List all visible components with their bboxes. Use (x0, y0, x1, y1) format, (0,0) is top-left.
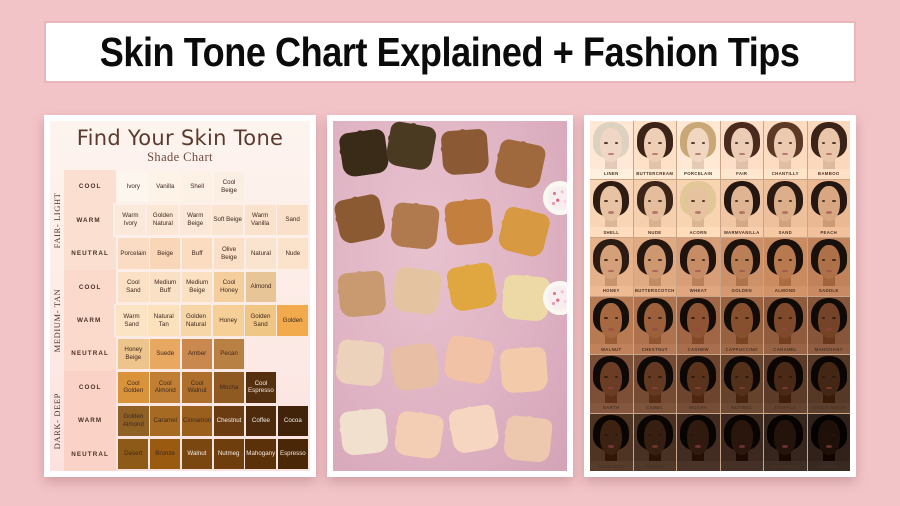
hand-cookie (333, 192, 387, 245)
shade-cell[interactable]: Chestnut (214, 406, 244, 436)
face-shade-cell[interactable]: COCOA (808, 414, 851, 472)
face-shade-cell[interactable]: MOCHA (677, 355, 720, 413)
shade-cell[interactable]: Espresso (278, 439, 308, 469)
shade-cells: Cool SandMedium BuffMedium BeigeCool Hon… (116, 270, 310, 303)
face-shade-name: CASHEW (677, 344, 720, 354)
face-shade-cell[interactable]: MAHOGANY (808, 297, 851, 355)
face-shade-name: PORCELAIN (677, 169, 720, 179)
face-shade-cell[interactable]: NUDE (634, 180, 677, 238)
shade-cell[interactable]: Medium Beige (182, 272, 212, 302)
hand-cookie (444, 198, 494, 247)
shade-cell[interactable]: Nutmeg (214, 439, 244, 469)
face-shade-name: CHANTILLY (764, 169, 807, 179)
shade-row: NEUTRALPorcelainBeigeBuffOlive BeigeNatu… (64, 237, 310, 270)
hand-cookie (503, 415, 553, 464)
face-shade-name: WHEAT (677, 286, 720, 296)
face-shade-name: BUTTERCREAM (634, 169, 677, 179)
face-shade-name: ACORN (677, 227, 720, 237)
face-shade-name: CAMEL (634, 403, 677, 413)
hand-cookie (384, 121, 437, 172)
face-shade-name: MAHOGANY (808, 344, 851, 354)
hand-cookies-photo (333, 121, 567, 471)
shade-cell[interactable]: Shell (182, 172, 212, 202)
shade-chart-inner: Find Your Skin Tone Shade Chart FAIR- LI… (50, 121, 310, 471)
hand-cookie (393, 410, 445, 460)
face-shade-name: NUDE (634, 227, 677, 237)
shade-row: NEUTRALHoney BeigeSuedeAmberPecan (64, 337, 310, 370)
face-shade-cell[interactable]: PERIWINKLE (764, 414, 807, 472)
shade-cell[interactable]: Beige (150, 238, 180, 268)
hand-cookie (390, 201, 440, 250)
shade-cell[interactable]: Mocha (214, 372, 244, 402)
shade-cells: Warm SandNatural TanGolden NaturalHoneyG… (114, 304, 310, 337)
shade-cells: Warm IvoryGolden NaturalWarm BeigeSoft B… (113, 203, 310, 236)
shade-band-0: COOLIvoryVanillaShellCool BeigeWARMWarm … (64, 170, 310, 270)
shade-row: COOLIvoryVanillaShellCool Beige (64, 170, 310, 203)
shade-cell[interactable]: Vanilla (150, 172, 180, 202)
shade-row: WARMWarm IvoryGolden NaturalWarm BeigeSo… (64, 203, 310, 236)
undertone-label-cool: COOL (64, 170, 116, 203)
face-shade-cell[interactable]: EARTH (590, 355, 633, 413)
shade-cell[interactable]: Medium Buff (150, 272, 180, 302)
shade-cell[interactable]: Mahogany (245, 439, 276, 469)
shade-band-2: COOLCool GoldenCool AlmondCool WalnutMoc… (64, 371, 310, 471)
page-title: Skin Tone Chart Explained + Fashion Tips (100, 32, 800, 73)
hand-cookie (339, 128, 391, 178)
shade-cell[interactable]: Ivory (118, 172, 148, 202)
shade-cell[interactable]: Cool Almond (150, 372, 180, 402)
shade-cell[interactable]: Porcelain (118, 238, 148, 268)
face-shade-name: BISQUE (634, 461, 677, 471)
hand-cookie (443, 334, 496, 385)
face-shade-name: COCOA (808, 461, 851, 471)
shade-cell[interactable]: Caramel (150, 406, 180, 436)
face-shade-name: PEACH (808, 227, 851, 237)
face-shade-cell[interactable]: FAIR (721, 121, 764, 179)
face-shade-name: MOCHA (677, 403, 720, 413)
face-shade-cell[interactable]: CAPPUCCINO (721, 297, 764, 355)
face-shade-cell[interactable]: BUTTERCREAM (634, 121, 677, 179)
hand-cookies-photo-panel (327, 115, 573, 477)
undertone-label-warm: WARM (64, 404, 116, 437)
face-shade-name: SADDLE (808, 286, 851, 296)
hand-cookie (337, 270, 387, 318)
face-shade-cell[interactable]: CHANTILLY (764, 121, 807, 179)
face-shade-name: DARK CLOVE (721, 461, 764, 471)
shade-cell[interactable]: Cool Honey (214, 272, 244, 302)
shade-cell[interactable]: Golden Natural (147, 205, 178, 235)
face-shade-name: NUTMEG (721, 403, 764, 413)
shade-chart-subtitle: Shade Chart (50, 150, 310, 165)
shade-cell[interactable]: Natural Tan (148, 305, 179, 335)
face-shade-cell[interactable]: BUTTERSCOTCH (634, 238, 677, 296)
shade-cell[interactable]: Almond (246, 272, 276, 302)
face-shade-cell[interactable]: SIENA (677, 414, 720, 472)
face-shade-name: SIENA (677, 461, 720, 471)
shade-band-1: COOLCool SandMedium BuffMedium BeigeCool… (64, 270, 310, 370)
face-shade-name: WALNUT (590, 344, 633, 354)
face-shade-cell[interactable]: CARAMEL (764, 297, 807, 355)
face-shade-cell[interactable]: ALMOND (764, 238, 807, 296)
shade-cell[interactable]: Cool Walnut (182, 372, 212, 402)
faces-shade-grid: LINENBUTTERCREAMPORCELAINFAIRCHANTILLYBA… (590, 121, 850, 471)
face-shade-name: HAZELNUT (590, 461, 633, 471)
shade-cell[interactable]: Olive Beige (214, 238, 244, 268)
sprinkles-bowl (543, 181, 567, 215)
face-shade-cell[interactable]: SANDALWOOD (808, 355, 851, 413)
shade-cell[interactable]: Warm Ivory (115, 205, 146, 235)
group-label-2: DARK- DEEP (50, 371, 64, 471)
hand-cookie (391, 266, 443, 316)
shade-cell[interactable]: Golden Natural (181, 305, 212, 335)
face-shade-cell[interactable]: GOLDEN (721, 238, 764, 296)
group-label-1: MEDIUM- TAN (50, 270, 64, 370)
face-shade-cell[interactable]: WHEAT (677, 238, 720, 296)
face-shade-cell[interactable]: SHELL (590, 180, 633, 238)
shade-row: WARMWarm SandNatural TanGolden NaturalHo… (64, 304, 310, 337)
undertone-label-cool: COOL (64, 270, 116, 303)
shade-cells: Golden AlmondCaramelCinnamonChestnutCoff… (116, 404, 310, 437)
face-shade-name: ALMOND (764, 286, 807, 296)
shade-cell[interactable]: Suede (150, 339, 180, 369)
face-shade-name: GOLDEN (721, 286, 764, 296)
face-shade-cell[interactable]: HAZELNUT (590, 414, 633, 472)
shade-cells: Honey BeigeSuedeAmberPecan (116, 337, 310, 370)
face-shade-name: TRUFFLE (764, 403, 807, 413)
face-shade-cell[interactable]: CHESTNUT (634, 297, 677, 355)
face-shade-name: HONEY (590, 286, 633, 296)
shade-row: COOLCool SandMedium BuffMedium BeigeCool… (64, 270, 310, 303)
face-shade-cell[interactable]: TRUFFLE (764, 355, 807, 413)
undertone-label-warm: WARM (64, 304, 114, 337)
shade-cell[interactable]: Natural (246, 238, 276, 268)
shade-cell[interactable]: Buff (182, 238, 212, 268)
face-shade-name: SAND (764, 227, 807, 237)
shade-cell[interactable]: Desert (118, 439, 148, 469)
face-shade-name: LINEN (590, 169, 633, 179)
shade-cell[interactable]: Pecan (214, 339, 244, 369)
face-shade-cell[interactable]: HONEY (590, 238, 633, 296)
shade-cell[interactable]: Nude (278, 238, 308, 268)
title-banner: Skin Tone Chart Explained + Fashion Tips (44, 21, 856, 83)
face-shade-cell[interactable]: CAMEL (634, 355, 677, 413)
face-shade-name: SANDALWOOD (808, 403, 851, 413)
shade-cell[interactable]: Golden Almond (118, 406, 148, 436)
face-shade-cell[interactable]: SAND (764, 180, 807, 238)
shade-cell[interactable]: Golden (277, 305, 308, 335)
shade-row: NEUTRALDesertBronzeWalnutNutmegMahoganyE… (64, 438, 310, 471)
hand-cookie (500, 346, 549, 393)
undertone-label-neutral: NEUTRAL (64, 438, 116, 471)
shade-cell[interactable]: Cool Beige (214, 172, 244, 202)
shade-cell[interactable]: Sand (277, 205, 308, 235)
face-shade-name: CAPPUCCINO (721, 344, 764, 354)
shade-cell[interactable]: Honey (213, 305, 244, 335)
hand-cookie (447, 403, 500, 454)
group-label-column: FAIR- LIGHTMEDIUM- TANDARK- DEEP (50, 170, 64, 471)
face-shade-name: BAMBOO (808, 169, 851, 179)
face-shade-cell[interactable]: BAMBOO (808, 121, 851, 179)
shade-cell[interactable]: Cool Golden (118, 372, 148, 402)
shade-chart-rows: COOLIvoryVanillaShellCool BeigeWARMWarm … (64, 170, 310, 471)
face-shade-name: CHESTNUT (634, 344, 677, 354)
face-shade-name: EARTH (590, 403, 633, 413)
undertone-label-neutral: NEUTRAL (64, 337, 116, 370)
hand-cookie (496, 206, 551, 260)
face-shade-cell[interactable]: ACORN (677, 180, 720, 238)
hand-cookie (389, 342, 441, 392)
shade-cells: PorcelainBeigeBuffOlive BeigeNaturalNude (116, 237, 310, 270)
group-label-0: FAIR- LIGHT (50, 170, 64, 270)
face-shade-cell[interactable]: WALNUT (590, 297, 633, 355)
face-shade-name: FAIR (721, 169, 764, 179)
shade-cell[interactable]: Warm Sand (116, 305, 147, 335)
hand-cookie (445, 262, 498, 313)
face-shade-cell[interactable]: PORCELAIN (677, 121, 720, 179)
undertone-label-warm: WARM (64, 203, 113, 236)
face-shade-cell[interactable]: NUTMEG (721, 355, 764, 413)
shade-cell[interactable]: Walnut (182, 439, 212, 469)
shade-chart-grid: FAIR- LIGHTMEDIUM- TANDARK- DEEP COOLIvo… (50, 170, 310, 471)
face-shade-cell[interactable]: CASHEW (677, 297, 720, 355)
shade-cell[interactable]: Warm Beige (180, 205, 211, 235)
hand-cookie (339, 408, 389, 457)
face-shade-cell[interactable]: WARMVANILLA (721, 180, 764, 238)
face-shade-cell[interactable]: BISQUE (634, 414, 677, 472)
shade-cell[interactable]: Cool Sand (118, 272, 148, 302)
shade-cell[interactable]: Amber (182, 339, 212, 369)
shade-chart-header: Find Your Skin Tone Shade Chart (50, 121, 310, 170)
shade-cell[interactable]: Honey Beige (118, 339, 148, 369)
hand-cookie (335, 339, 385, 388)
face-shade-cell[interactable]: DARK CLOVE (721, 414, 764, 472)
shade-cell[interactable]: Coffee (246, 406, 276, 436)
face-shade-name: CARAMEL (764, 344, 807, 354)
face-shade-cell[interactable]: LINEN (590, 121, 633, 179)
shade-row: COOLCool GoldenCool AlmondCool WalnutMoc… (64, 371, 310, 404)
shade-chart-panel: Find Your Skin Tone Shade Chart FAIR- LI… (44, 115, 316, 477)
shade-cell[interactable]: Cinnamon (182, 406, 212, 436)
faces-shade-grid-panel: LINENBUTTERCREAMPORCELAINFAIRCHANTILLYBA… (584, 115, 856, 477)
shade-cell[interactable]: Soft Beige (212, 205, 243, 235)
shade-cells: DesertBronzeWalnutNutmegMahoganyEspresso (116, 438, 310, 471)
shade-chart-title: Find Your Skin Tone (50, 127, 310, 149)
face-shade-name: BUTTERSCOTCH (634, 286, 677, 296)
shade-row: WARMGolden AlmondCaramelCinnamonChestnut… (64, 404, 310, 437)
face-shade-name: SHELL (590, 227, 633, 237)
shade-cell[interactable]: Cool Espresso (246, 372, 276, 402)
shade-cells: IvoryVanillaShellCool Beige (116, 170, 310, 203)
hand-cookie (441, 128, 490, 175)
shade-cells: Cool GoldenCool AlmondCool WalnutMochaCo… (116, 371, 310, 404)
shade-cell[interactable]: Golden Sand (245, 305, 276, 335)
undertone-label-cool: COOL (64, 371, 116, 404)
shade-cell[interactable]: Warm Vanilla (245, 205, 276, 235)
shade-cell[interactable]: Cocoa (278, 406, 308, 436)
face-shade-cell[interactable]: SADDLE (808, 238, 851, 296)
shade-cell[interactable]: Bronze (150, 439, 180, 469)
hand-cookie (493, 137, 547, 190)
face-shade-cell[interactable]: PEACH (808, 180, 851, 238)
face-shade-name: PERIWINKLE (764, 461, 807, 471)
undertone-label-neutral: NEUTRAL (64, 237, 116, 270)
face-shade-name: WARMVANILLA (721, 227, 764, 237)
